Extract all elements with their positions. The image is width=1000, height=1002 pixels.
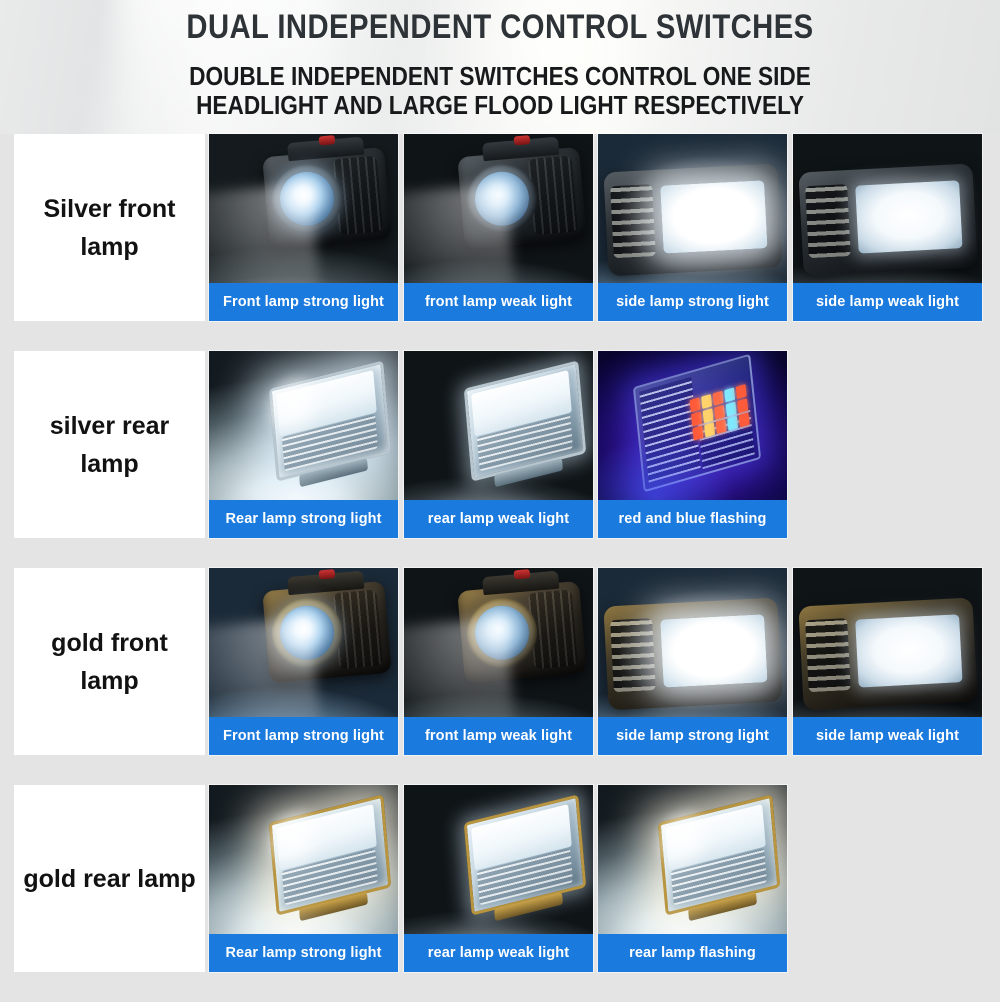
side-grille (805, 184, 851, 258)
torch-body-silver (457, 147, 587, 249)
torch-button (319, 569, 336, 579)
row-label-silver-front-lamp: Silver front lamp (14, 134, 205, 321)
header: DUAL INDEPENDENT CONTROL SWITCHES DOUBLE… (0, 0, 1000, 134)
cell-caption: front lamp weak light (404, 283, 593, 321)
photo-cell-rear-lamp-weak-light-gold[interactable]: rear lamp weak light (404, 785, 593, 972)
cob-panel-lit (660, 180, 767, 253)
torch-lens-dim (473, 603, 532, 662)
cell-caption: rear lamp weak light (404, 500, 593, 538)
product-infographic: DUAL INDEPENDENT CONTROL SWITCHES DOUBLE… (0, 0, 1000, 1000)
photo-cell-rear-lamp-strong-light[interactable]: Rear lamp strong light (209, 351, 398, 538)
rear-flood-lamp-gold-dim (464, 794, 587, 915)
torch-button (319, 135, 336, 145)
rear-flood-lamp-gold-lit (269, 794, 392, 915)
table-row: gold front lamp Front lamp strong light (0, 568, 1000, 755)
side-flood-body-silver (798, 164, 977, 277)
row-label-gold-rear-lamp: gold rear lamp (14, 785, 205, 972)
rear-flood-lamp-silver-lit (269, 360, 392, 481)
torch-lens-lit (278, 169, 337, 228)
cob-panel-lit (660, 614, 767, 687)
page-subtitle: DOUBLE INDEPENDENT SWITCHES CONTROL ONE … (65, 62, 935, 120)
rear-flood-lamp-silver-dim (464, 360, 587, 481)
photo-cell-rear-lamp-strong-light-gold[interactable]: Rear lamp strong light (209, 785, 398, 972)
photo-cell-rear-lamp-flashing-gold[interactable]: rear lamp flashing (598, 785, 787, 972)
lamp-mode-grid: Silver front lamp Front lamp strong ligh… (0, 134, 1000, 1002)
torch-body-silver (262, 147, 392, 249)
cell-caption: rear lamp flashing (598, 934, 787, 972)
photo-cell-front-lamp-weak-light-gold[interactable]: front lamp weak light (404, 568, 593, 755)
cell-caption: side lamp weak light (793, 283, 982, 321)
table-row: gold rear lamp Rear lamp strong light (0, 785, 1000, 972)
photo-cell-side-lamp-strong-light-gold[interactable]: side lamp strong light (598, 568, 787, 755)
photo-cell-rear-lamp-weak-light[interactable]: rear lamp weak light (404, 351, 593, 538)
subtitle-line-1: DOUBLE INDEPENDENT SWITCHES CONTROL ONE … (65, 62, 935, 91)
torch-body-gold (262, 581, 392, 683)
torch-button (514, 135, 531, 145)
torch-lens-lit (278, 603, 337, 662)
page-title: DUAL INDEPENDENT CONTROL SWITCHES (70, 8, 930, 47)
cob-panel-dim (855, 180, 962, 253)
photo-cell-front-lamp-weak-light[interactable]: front lamp weak light (404, 134, 593, 321)
side-flood-body-gold (603, 598, 782, 711)
photo-cell-red-and-blue-flashing[interactable]: red and blue flashing (598, 351, 787, 538)
cell-caption: front lamp weak light (404, 717, 593, 755)
table-row: silver rear lamp Rear lamp strong light (0, 351, 1000, 538)
row-label-text: silver rear lamp (22, 407, 197, 483)
side-flood-body-silver (603, 164, 782, 277)
flood-fins (639, 377, 700, 483)
cell-caption: side lamp strong light (598, 283, 787, 321)
cell-caption: Rear lamp strong light (209, 500, 398, 538)
photo-cell-front-lamp-strong-light-gold[interactable]: Front lamp strong light (209, 568, 398, 755)
photo-cell-front-lamp-strong-light[interactable]: Front lamp strong light (209, 134, 398, 321)
side-flood-body-gold (798, 598, 977, 711)
cell-caption: Front lamp strong light (209, 717, 398, 755)
cell-caption: red and blue flashing (598, 500, 787, 538)
row-label-text: Silver front lamp (22, 190, 197, 266)
cob-panel-dim (855, 614, 962, 687)
side-grille (610, 184, 656, 258)
rear-flood-lamp-gold-flashing (658, 794, 781, 915)
side-grille (610, 618, 656, 692)
table-row: Silver front lamp Front lamp strong ligh… (0, 134, 1000, 321)
row-label-silver-rear-lamp: silver rear lamp (14, 351, 205, 538)
cell-caption: Rear lamp strong light (209, 934, 398, 972)
cell-caption: side lamp weak light (793, 717, 982, 755)
cell-caption: rear lamp weak light (404, 934, 593, 972)
side-grille (805, 618, 851, 692)
row-label-text: gold rear lamp (23, 860, 195, 898)
torch-button (514, 569, 531, 579)
cell-caption: side lamp strong light (598, 717, 787, 755)
photo-cell-side-lamp-weak-light-gold[interactable]: side lamp weak light (793, 568, 982, 755)
cell-caption: Front lamp strong light (209, 283, 398, 321)
torch-body-gold (457, 581, 587, 683)
rear-flood-lamp-flashing (633, 354, 761, 493)
row-label-gold-front-lamp: gold front lamp (14, 568, 205, 755)
photo-cell-side-lamp-strong-light[interactable]: side lamp strong light (598, 134, 787, 321)
subtitle-line-2: HEADLIGHT AND LARGE FLOOD LIGHT RESPECTI… (65, 91, 935, 120)
photo-cell-side-lamp-weak-light[interactable]: side lamp weak light (793, 134, 982, 321)
row-label-text: gold front lamp (22, 624, 197, 700)
torch-lens-dim (473, 169, 532, 228)
